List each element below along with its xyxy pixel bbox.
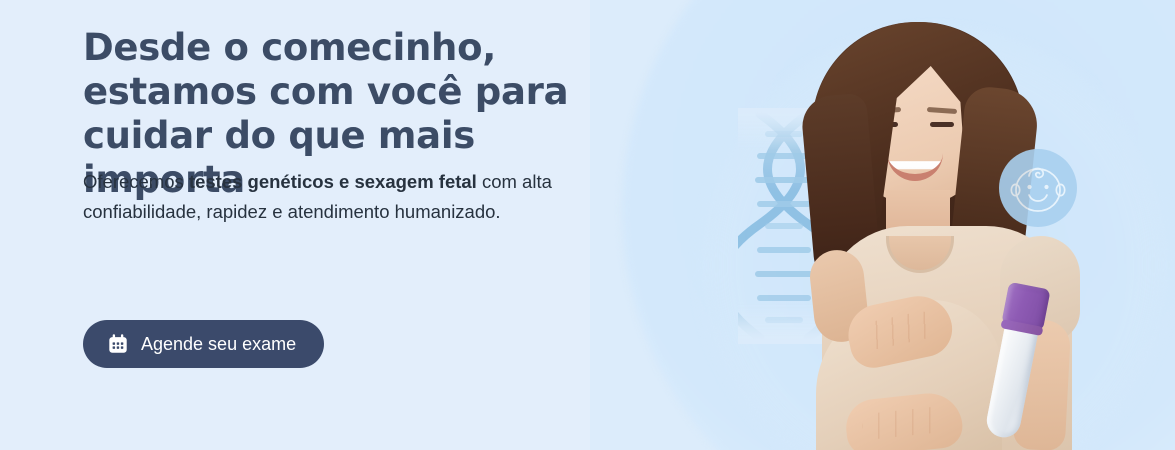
eye-right <box>930 122 954 127</box>
dna-fade-bottom <box>738 302 830 344</box>
calendar-icon <box>107 333 129 355</box>
dna-helix-graphic <box>738 108 830 344</box>
sleeve <box>1000 236 1080 342</box>
eye-left <box>874 122 898 127</box>
dna-fade-top <box>738 108 830 150</box>
belly <box>816 300 1002 450</box>
baby-face-badge-icon <box>999 149 1077 227</box>
hair-front <box>812 22 1024 222</box>
headline-line-1: Desde o comecinho, <box>83 26 603 70</box>
shirt-collar <box>886 236 954 273</box>
hair-strand-right <box>945 85 1040 298</box>
blood-collection-tube-graphic <box>975 281 1057 448</box>
schedule-exam-button[interactable]: Agende seu exame <box>83 320 324 368</box>
hand-upper <box>843 290 958 372</box>
promo-banner: Desde o comecinho, estamos com você para… <box>0 0 1175 450</box>
background-right-wash <box>590 0 1175 450</box>
soft-blue-circle-backdrop <box>622 0 1175 450</box>
banner-media <box>600 0 1175 450</box>
arm-right <box>1013 319 1072 450</box>
smile <box>887 150 943 181</box>
hair-strand-left <box>800 92 882 287</box>
tube-cap <box>1001 282 1050 331</box>
face <box>854 44 982 204</box>
headline-line-2: estamos com você para <box>83 70 603 114</box>
torso <box>822 226 1072 450</box>
subtitle-highlight: testes genéticos e sexagem fetal <box>189 171 477 192</box>
pregnant-woman-photo <box>750 0 1175 450</box>
banner-subtitle: Oferecemos testes genéticos e sexagem fe… <box>83 167 583 227</box>
eyebrow-right <box>927 107 957 114</box>
hand-lower <box>843 390 964 450</box>
schedule-exam-button-label: Agende seu exame <box>141 335 296 353</box>
eyebrow-left <box>871 107 901 114</box>
subtitle-prefix: Oferecemos <box>83 171 189 192</box>
soft-blue-circle-backdrop-inner <box>700 30 1170 450</box>
banner-content: Desde o comecinho, estamos com você para… <box>83 0 603 450</box>
neck <box>886 190 950 246</box>
hair-back <box>812 22 1024 282</box>
tube-body <box>984 310 1041 440</box>
arm-upper-left <box>807 247 870 344</box>
